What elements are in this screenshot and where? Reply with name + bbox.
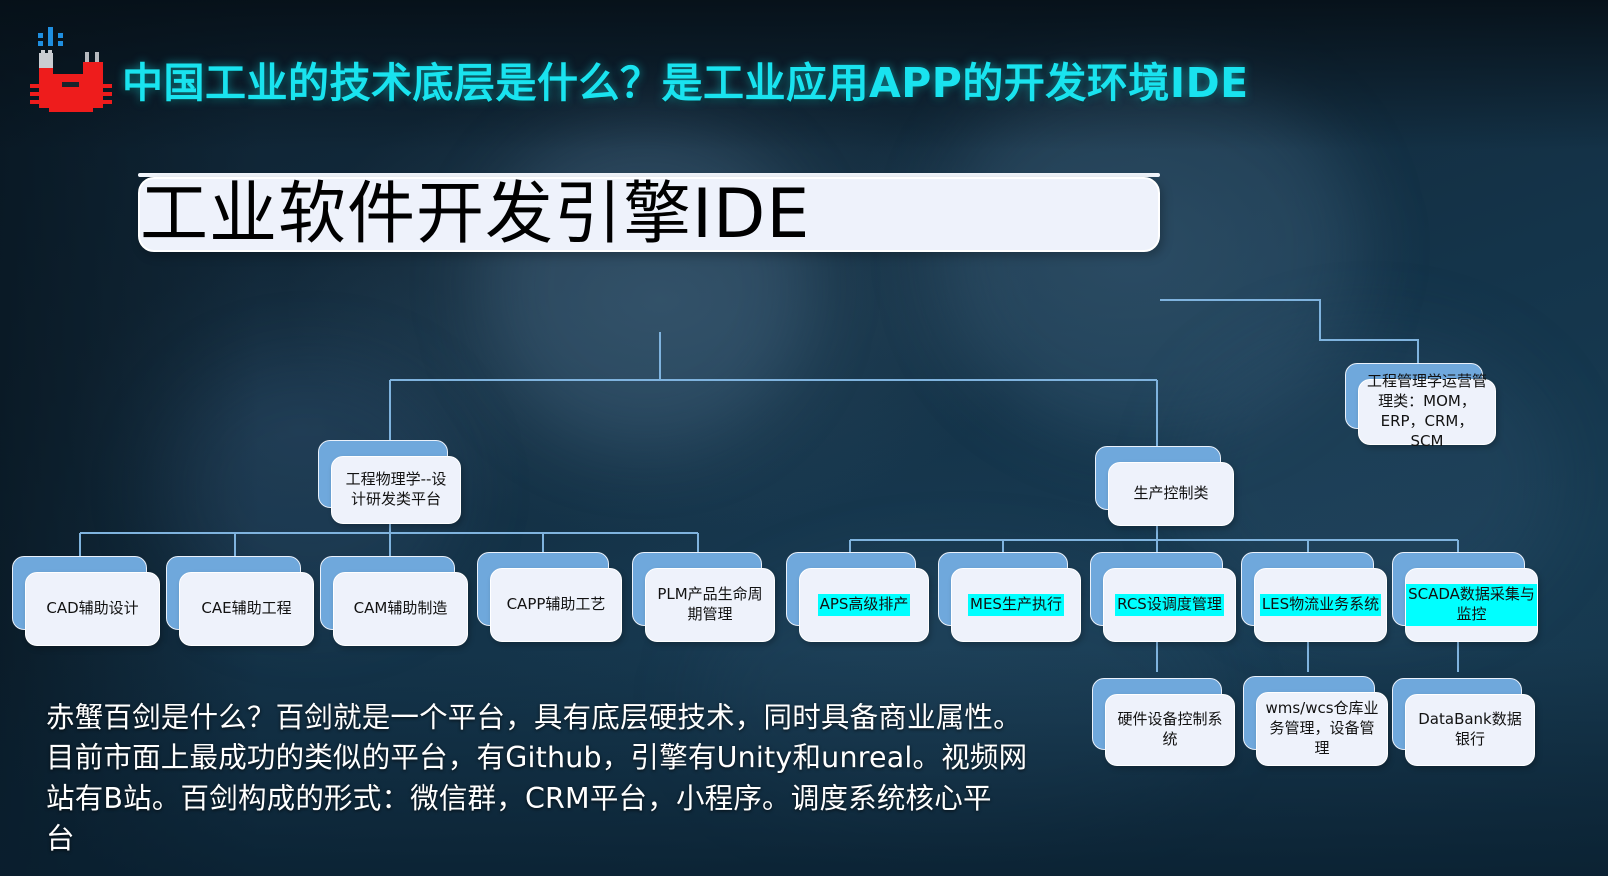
node-face-card: APS高级排产 xyxy=(799,568,929,642)
caption-line-1: 赤蟹百剑是什么？百剑就是一个平台，具有底层硬技术，同时具备商业属性。 xyxy=(46,698,1046,738)
node-face-card: LES物流业务系统 xyxy=(1254,568,1387,642)
node-face-card: 工程物理学--设计研发类平台 xyxy=(331,456,461,524)
red-crab-logo-icon xyxy=(22,8,118,116)
node-face-card: wms/wcs仓库业务管理，设备管理 xyxy=(1256,692,1388,766)
node-face-card: CAM辅助制造 xyxy=(333,572,468,646)
node-face-card: DataBank数据银行 xyxy=(1405,694,1535,766)
leaf-node-databank[interactable]: DataBank数据银行 xyxy=(1392,678,1522,750)
leaf-node-cam-label: CAM辅助制造 xyxy=(347,597,455,621)
leaf-node-plm-label: PLM产品生命周期管理 xyxy=(646,583,774,627)
leaf-node-les-label: LES物流业务系统 xyxy=(1260,594,1381,616)
leaf-node-wms[interactable]: wms/wcs仓库业务管理，设备管理 xyxy=(1243,676,1375,750)
leaf-node-wms-label: wms/wcs仓库业务管理，设备管理 xyxy=(1257,697,1387,760)
node-face-card: CAE辅助工程 xyxy=(179,572,314,646)
slide-header: 中国工业的技术底层是什么？是工业应用APP的开发环境IDE xyxy=(0,0,1608,130)
node-face-card: 工程管理学运营管理类：MOM，ERP，CRM，SCM xyxy=(1358,379,1496,445)
branch-node-management-label: 工程管理学运营管理类：MOM，ERP，CRM，SCM xyxy=(1359,370,1495,453)
leaf-node-hardware-label: 硬件设备控制系统 xyxy=(1106,708,1234,752)
branch-node-design[interactable]: 工程物理学--设计研发类平台 xyxy=(318,440,448,508)
leaf-node-rcs-label: RCS设调度管理 xyxy=(1115,594,1224,616)
leaf-node-mes-label: MES生产执行 xyxy=(968,594,1064,616)
leaf-node-aps-label: APS高级排产 xyxy=(818,594,911,616)
leaf-node-hardware[interactable]: 硬件设备控制系统 xyxy=(1092,678,1222,750)
node-face-card: CAPP辅助工艺 xyxy=(490,568,622,642)
root-node-label: 工业软件开发引擎IDE xyxy=(140,175,810,254)
node-face-card: 工业软件开发引擎IDE xyxy=(138,177,1160,252)
leaf-node-rcs[interactable]: RCS设调度管理 xyxy=(1090,552,1223,626)
node-face-card: MES生产执行 xyxy=(951,568,1081,642)
node-face-card: 生产控制类 xyxy=(1108,462,1234,526)
leaf-node-databank-label: DataBank数据银行 xyxy=(1406,708,1534,752)
node-face-card: CAD辅助设计 xyxy=(25,572,160,646)
caption-line-2: 目前市面上最成功的类似的平台，有Github，引擎有Unity和unreal。视… xyxy=(46,738,1046,778)
caption-line-4: 台 xyxy=(46,819,1046,859)
root-node-ide[interactable]: 工业软件开发引擎IDE xyxy=(138,173,1160,318)
slide-canvas: 中国工业的技术底层是什么？是工业应用APP的开发环境IDE xyxy=(0,0,1608,876)
leaf-node-cad[interactable]: CAD辅助设计 xyxy=(12,556,147,630)
node-face-card: 硬件设备控制系统 xyxy=(1105,694,1235,766)
page-title: 中国工业的技术底层是什么？是工业应用APP的开发环境IDE xyxy=(122,49,1249,109)
slide-caption: 赤蟹百剑是什么？百剑就是一个平台，具有底层硬技术，同时具备商业属性。 目前市面上… xyxy=(46,698,1046,860)
branch-node-design-label: 工程物理学--设计研发类平台 xyxy=(332,468,460,512)
node-face-card: PLM产品生命周期管理 xyxy=(645,568,775,642)
leaf-node-scada-label: SCADA数据采集与监控 xyxy=(1406,584,1537,626)
leaf-node-capp-label: CAPP辅助工艺 xyxy=(500,593,613,617)
branch-node-production[interactable]: 生产控制类 xyxy=(1095,446,1221,510)
leaf-node-cae-label: CAE辅助工程 xyxy=(194,597,298,621)
leaf-node-cam[interactable]: CAM辅助制造 xyxy=(320,556,455,630)
leaf-node-scada[interactable]: SCADA数据采集与监控 xyxy=(1392,552,1525,626)
branch-node-management[interactable]: 工程管理学运营管理类：MOM，ERP，CRM，SCM xyxy=(1345,363,1483,429)
caption-line-3: 站有B站。百剑构成的形式：微信群，CRM平台，小程序。调度系统核心平 xyxy=(46,779,1046,819)
node-face-card: SCADA数据采集与监控 xyxy=(1405,568,1538,642)
leaf-node-cad-label: CAD辅助设计 xyxy=(39,597,145,621)
leaf-node-cae[interactable]: CAE辅助工程 xyxy=(166,556,301,630)
leaf-node-les[interactable]: LES物流业务系统 xyxy=(1241,552,1374,626)
leaf-node-capp[interactable]: CAPP辅助工艺 xyxy=(477,552,609,626)
leaf-node-mes[interactable]: MES生产执行 xyxy=(938,552,1068,626)
leaf-node-plm[interactable]: PLM产品生命周期管理 xyxy=(632,552,762,626)
leaf-node-aps[interactable]: APS高级排产 xyxy=(786,552,916,626)
node-face-card: RCS设调度管理 xyxy=(1103,568,1236,642)
branch-node-production-label: 生产控制类 xyxy=(1126,482,1215,506)
